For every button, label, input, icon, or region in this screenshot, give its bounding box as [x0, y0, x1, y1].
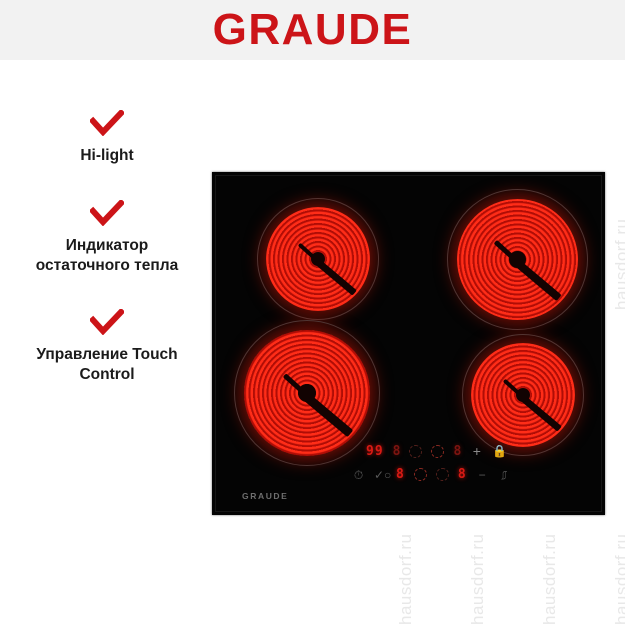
product-brand-label: GRAUDE	[242, 491, 288, 501]
zone4-level-display: 8	[458, 468, 467, 481]
heating-zone-top-right	[447, 189, 588, 330]
heating-zone-top-left	[257, 198, 379, 320]
control-row-bottom: ⏱ ✓○ 8 8 − ⎎	[352, 468, 511, 481]
feature-label: Управление Touch Control	[17, 345, 197, 385]
feature-label: Индикатор остаточного тепла	[17, 236, 197, 276]
feature-item-residual-heat: Индикатор остаточного тепла	[8, 200, 206, 276]
clock-icon[interactable]: ✓○	[374, 469, 387, 481]
feature-item-touch-control: Управление Touch Control	[8, 309, 206, 385]
control-row-top: 99 8 8 + 🔒	[366, 444, 505, 458]
touch-control-panel[interactable]: 99 8 8 + 🔒 ⏱ ✓○ 8 8 − ⎎	[352, 441, 572, 495]
watermark: hausdorf.ru	[612, 219, 625, 311]
zone1-level-display: 8	[393, 445, 401, 458]
header-band: GRAUDE	[0, 0, 625, 60]
feature-label: Hi-light	[80, 146, 133, 166]
timer-display: 99	[366, 445, 384, 458]
watermark: hausdorf.ru	[468, 534, 488, 625]
power-icon[interactable]: ⎎	[498, 469, 511, 481]
watermark: hausdorf.ru	[396, 534, 416, 625]
zone2-level-display: 8	[453, 445, 461, 458]
zone1-slider[interactable]	[409, 445, 422, 458]
check-icon	[90, 309, 124, 335]
element-hub-icon	[298, 384, 316, 402]
zone3-slider[interactable]	[414, 468, 427, 481]
timer-icon[interactable]: ⏱	[352, 469, 365, 481]
check-icon	[90, 110, 124, 136]
watermark: hausdorf.ru	[540, 534, 560, 625]
watermark: hausdorf.ru	[612, 534, 625, 625]
cooktop-surface: GRAUDE 99 8 8 + 🔒 ⏱ ✓○ 8 8 − ⎎	[212, 172, 605, 515]
feature-item-hi-light: Hi-light	[8, 110, 206, 166]
zone2-slider[interactable]	[431, 445, 444, 458]
zone4-slider[interactable]	[436, 468, 449, 481]
zone3-level-display: 8	[396, 468, 405, 481]
feature-list: Hi-light Индикатор остаточного тепла Упр…	[8, 110, 206, 419]
plus-button[interactable]: +	[470, 444, 483, 458]
page-title: GRAUDE	[213, 8, 413, 52]
check-icon	[90, 200, 124, 226]
heating-zone-bottom-right	[462, 334, 584, 456]
element-hub-icon	[509, 251, 526, 268]
lock-icon[interactable]: 🔒	[492, 445, 505, 457]
minus-button[interactable]: −	[476, 469, 489, 481]
